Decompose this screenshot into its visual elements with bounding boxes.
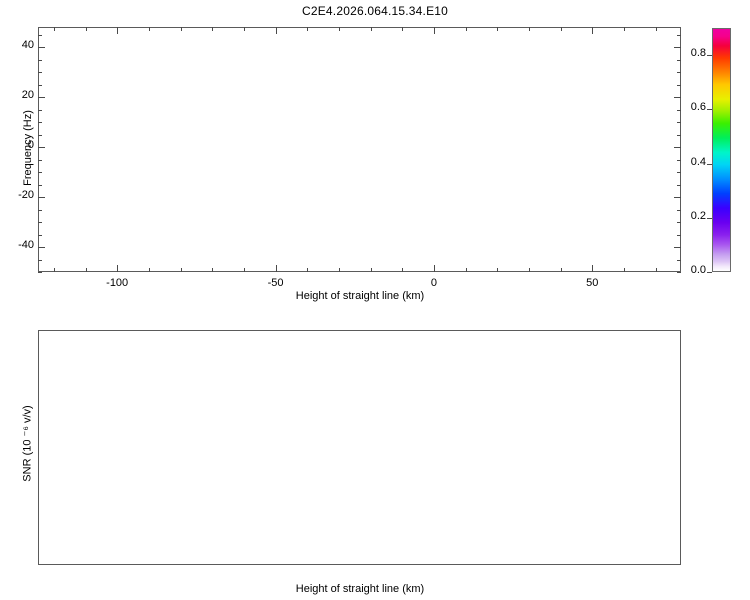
y-tick-major: [38, 147, 45, 148]
colorbar-tick: [707, 164, 712, 165]
y-tick-minor: [38, 110, 42, 111]
x-tick-minor-top: [307, 27, 308, 31]
x-tick-minor-top: [371, 27, 372, 31]
x-tick-minor: [656, 268, 657, 272]
colorbar-tick: [707, 55, 712, 56]
spectrogram-panel: [38, 27, 681, 272]
colorbar: [712, 28, 731, 272]
spectrogram-canvas: [39, 28, 681, 272]
x-tick-minor-top: [497, 27, 498, 31]
x-tick-minor: [497, 268, 498, 272]
y-tick-minor: [38, 72, 42, 73]
x-tick-label: 0: [414, 277, 454, 289]
y-tick-major-right: [674, 97, 681, 98]
colorbar-tick-label: 0.4: [678, 156, 706, 168]
y-tick-minor: [38, 35, 42, 36]
y-tick-major-right: [674, 197, 681, 198]
y-tick-minor-right: [677, 122, 681, 123]
y-tick-minor: [38, 85, 42, 86]
x-tick-minor-top: [561, 27, 562, 31]
x-tick-minor: [402, 268, 403, 272]
x-tick-minor: [624, 268, 625, 272]
spectrogram-ylabel: Frequency (Hz): [22, 93, 34, 203]
y-tick-minor: [38, 185, 42, 186]
y-tick-major-right: [674, 147, 681, 148]
x-tick-major: [434, 265, 435, 272]
x-tick-minor-top: [244, 27, 245, 31]
x-tick-label: -100: [97, 277, 137, 289]
x-tick-major-top: [434, 27, 435, 34]
x-tick-minor-top: [402, 27, 403, 31]
x-tick-minor: [181, 268, 182, 272]
x-tick-minor-top: [212, 27, 213, 31]
page-title: C2E4.2026.064.15.34.E10: [0, 4, 750, 18]
y-tick-minor-right: [677, 185, 681, 186]
y-tick-minor-right: [677, 260, 681, 261]
x-tick-major-top: [117, 27, 118, 34]
x-tick-minor-top: [529, 27, 530, 31]
y-tick-minor-right: [677, 60, 681, 61]
y-tick-major: [38, 97, 45, 98]
y-tick-minor: [38, 172, 42, 173]
x-tick-label: 50: [572, 277, 612, 289]
y-tick-minor-right: [677, 222, 681, 223]
x-tick-label: -50: [256, 277, 296, 289]
y-tick-minor-right: [677, 172, 681, 173]
figure-canvas: C2E4.2026.064.15.34.E10 -100-50050-40-20…: [0, 0, 750, 600]
y-tick-minor: [38, 160, 42, 161]
x-tick-major: [117, 265, 118, 272]
x-tick-minor: [149, 268, 150, 272]
colorbar-tick-label: 0.0: [678, 264, 706, 276]
x-tick-minor: [212, 268, 213, 272]
colorbar-tick: [707, 272, 712, 273]
y-tick-major-right: [674, 247, 681, 248]
x-tick-minor: [244, 268, 245, 272]
x-tick-minor: [561, 268, 562, 272]
y-tick-minor-right: [677, 85, 681, 86]
spectrogram-image: [39, 28, 680, 271]
y-tick-label: -40: [4, 239, 34, 251]
y-tick-minor-right: [677, 135, 681, 136]
x-tick-minor-top: [624, 27, 625, 31]
snr-xlabel: Height of straight line (km): [240, 583, 480, 595]
spectrogram-xlabel: Height of straight line (km): [240, 290, 480, 302]
y-tick-major: [38, 247, 45, 248]
y-tick-major: [38, 47, 45, 48]
snr-ylabel: SNR (10 ⁻⁶ v/v): [21, 384, 34, 504]
x-tick-major-top: [592, 27, 593, 34]
x-tick-minor: [54, 268, 55, 272]
x-tick-minor: [339, 268, 340, 272]
y-tick-minor: [38, 60, 42, 61]
colorbar-tick-label: 0.6: [678, 101, 706, 113]
x-tick-minor-top: [54, 27, 55, 31]
x-tick-minor-top: [86, 27, 87, 31]
colorbar-tick: [707, 109, 712, 110]
x-tick-minor: [529, 268, 530, 272]
x-tick-minor: [86, 268, 87, 272]
y-tick-minor: [38, 122, 42, 123]
colorbar-tick-label: 0.8: [678, 47, 706, 59]
y-tick-minor: [38, 135, 42, 136]
x-tick-minor: [307, 268, 308, 272]
snr-panel: [38, 330, 681, 565]
y-tick-minor-right: [677, 235, 681, 236]
snr-trace: [39, 331, 681, 565]
y-tick-minor: [38, 235, 42, 236]
y-tick-minor-right: [677, 72, 681, 73]
colorbar-tick: [707, 218, 712, 219]
y-tick-major: [38, 197, 45, 198]
colorbar-tick-label: 0.2: [678, 210, 706, 222]
y-tick-label: 40: [4, 39, 34, 51]
x-tick-minor-top: [466, 27, 467, 31]
x-tick-major: [276, 265, 277, 272]
x-tick-minor: [466, 268, 467, 272]
y-tick-minor: [38, 272, 42, 273]
x-tick-minor-top: [149, 27, 150, 31]
y-tick-minor-right: [677, 35, 681, 36]
y-tick-minor: [38, 260, 42, 261]
y-tick-minor: [38, 210, 42, 211]
x-tick-minor: [371, 268, 372, 272]
x-tick-major-top: [276, 27, 277, 34]
x-tick-minor-top: [656, 27, 657, 31]
x-tick-minor-top: [339, 27, 340, 31]
x-tick-major: [592, 265, 593, 272]
y-tick-minor: [38, 222, 42, 223]
x-tick-minor-top: [181, 27, 182, 31]
